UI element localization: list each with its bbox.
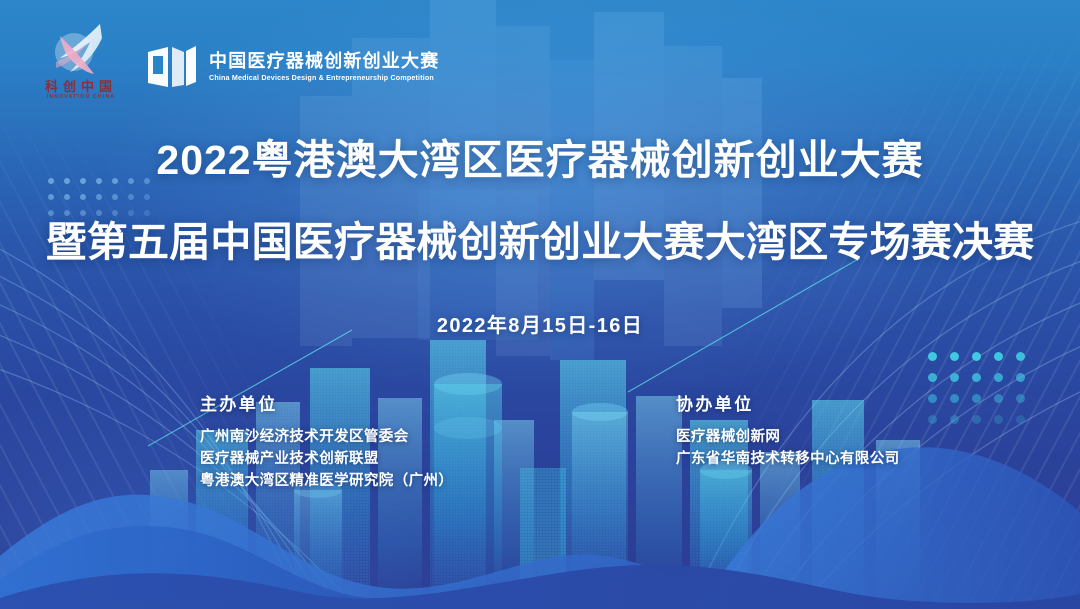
event-date: 2022年8月15日-16日 [0,309,1080,338]
cohost-organizer-heading: 协办单位 [676,390,900,415]
cohost-organizer-block: 协办单位 医疗器械创新网 广东省华南技术转移中心有限公司 [676,390,900,470]
host-organizer-block: 主办单位 广州南沙经济技术开发区管委会 医疗器械产业技术创新联盟 粤港澳大湾区精… [200,390,453,492]
innovation-china-cn: 科创中国 [40,80,122,94]
main-title-line2: 暨第五届中国医疗器械创新创业大赛大湾区专场赛决赛 [0,216,1080,268]
host-organizer-item: 医疗器械产业技术创新联盟 [200,448,453,470]
event-poster: 科创中国 INNOVATION CHINA 中国医疗器械创新创业大赛 China… [0,0,1080,609]
logo-innovation-china: 科创中国 INNOVATION CHINA [38,22,124,110]
dot-grid-right [928,352,1038,436]
logo-bar: 科创中国 INNOVATION CHINA 中国医疗器械创新创业大赛 China… [38,22,448,110]
host-organizer-item: 广州南沙经济技术开发区管委会 [200,426,453,448]
host-organizer-heading: 主办单位 [200,390,453,415]
logo-competition: 中国医疗器械创新创业大赛 China Medical Devices Desig… [146,44,448,90]
competition-name-cn: 中国医疗器械创新创业大赛 [209,51,448,72]
innovation-bird-mark [44,22,118,80]
open-book-window-mark [146,44,198,90]
cohost-organizer-item: 广东省华南技术转移中心有限公司 [676,448,900,470]
main-title-line1: 2022粤港澳大湾区医疗器械创新创业大赛 [0,134,1080,186]
host-organizer-item: 粤港澳大湾区精准医学研究院（广州） [200,470,453,492]
cohost-organizer-item: 医疗器械创新网 [676,426,900,448]
competition-name-en: China Medical Devices Design & Entrepren… [209,72,434,83]
innovation-china-en: INNOVATION CHINA [40,94,122,100]
